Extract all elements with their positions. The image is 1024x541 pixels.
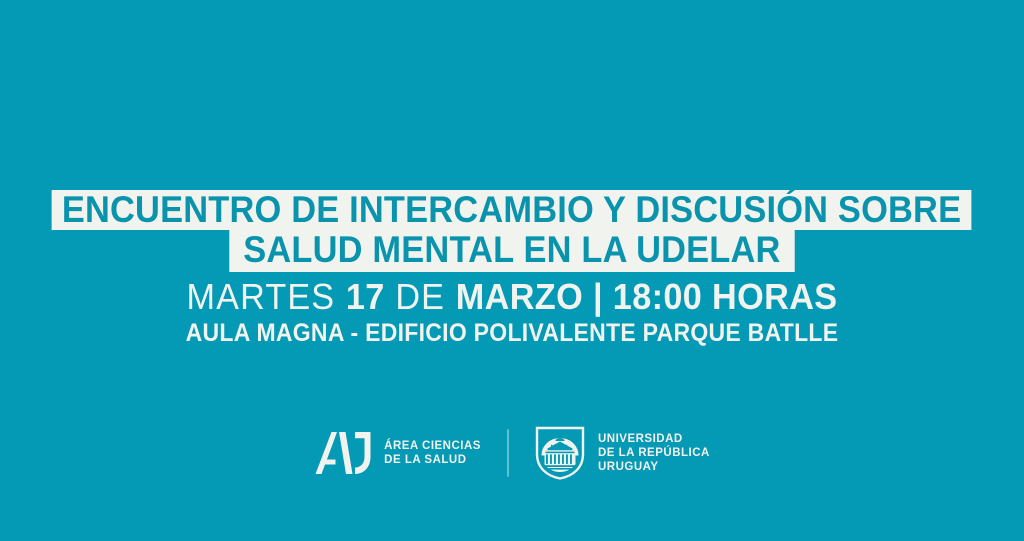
poster-title: ENCUENTRO DE INTERCAMBIO Y DISCUSIÓN SOB… [0, 190, 1024, 272]
event-venue: AULA MAGNA - EDIFICIO POLIVALENTE PARQUE… [41, 320, 983, 347]
acs-text-line-2: DE LA SALUD [384, 453, 481, 467]
udelar-shield-icon [535, 426, 585, 480]
date-day: 17 [346, 276, 385, 317]
udelar-logo-text: UNIVERSIDAD DE LA REPÚBLICA URUGUAY [598, 432, 710, 474]
udelar-text-line-3: URUGUAY [598, 460, 710, 474]
logo-row: ÁREA CIENCIAS DE LA SALUD [0, 426, 1024, 480]
event-date-line: MARTES 17 DE MARZO | 18:00 HORAS [26, 278, 999, 316]
acs-text-line-1: ÁREA CIENCIAS [384, 439, 481, 453]
udelar-text-line-2: DE LA REPÚBLICA [598, 446, 710, 460]
udelar-logo: UNIVERSIDAD DE LA REPÚBLICA URUGUAY [535, 426, 710, 480]
event-poster: ENCUENTRO DE INTERCAMBIO Y DISCUSIÓN SOB… [0, 0, 1024, 541]
date-connector: DE [395, 276, 445, 317]
acs-logo: ÁREA CIENCIAS DE LA SALUD [314, 431, 481, 475]
acs-logo-text: ÁREA CIENCIAS DE LA SALUD [384, 439, 481, 467]
event-time: 18:00 HORAS [613, 276, 838, 317]
date-month: MARZO [456, 276, 583, 317]
udelar-text-line-1: UNIVERSIDAD [598, 432, 710, 446]
date-separator: | [593, 276, 603, 317]
area-ciencias-salud-logo-icon [314, 431, 372, 475]
title-line-2: SALUD MENTAL EN LA UDELAR [229, 230, 794, 272]
logo-divider [507, 429, 509, 477]
date-weekday: MARTES [187, 276, 336, 317]
title-line-1: ENCUENTRO DE INTERCAMBIO Y DISCUSIÓN SOB… [52, 190, 972, 230]
